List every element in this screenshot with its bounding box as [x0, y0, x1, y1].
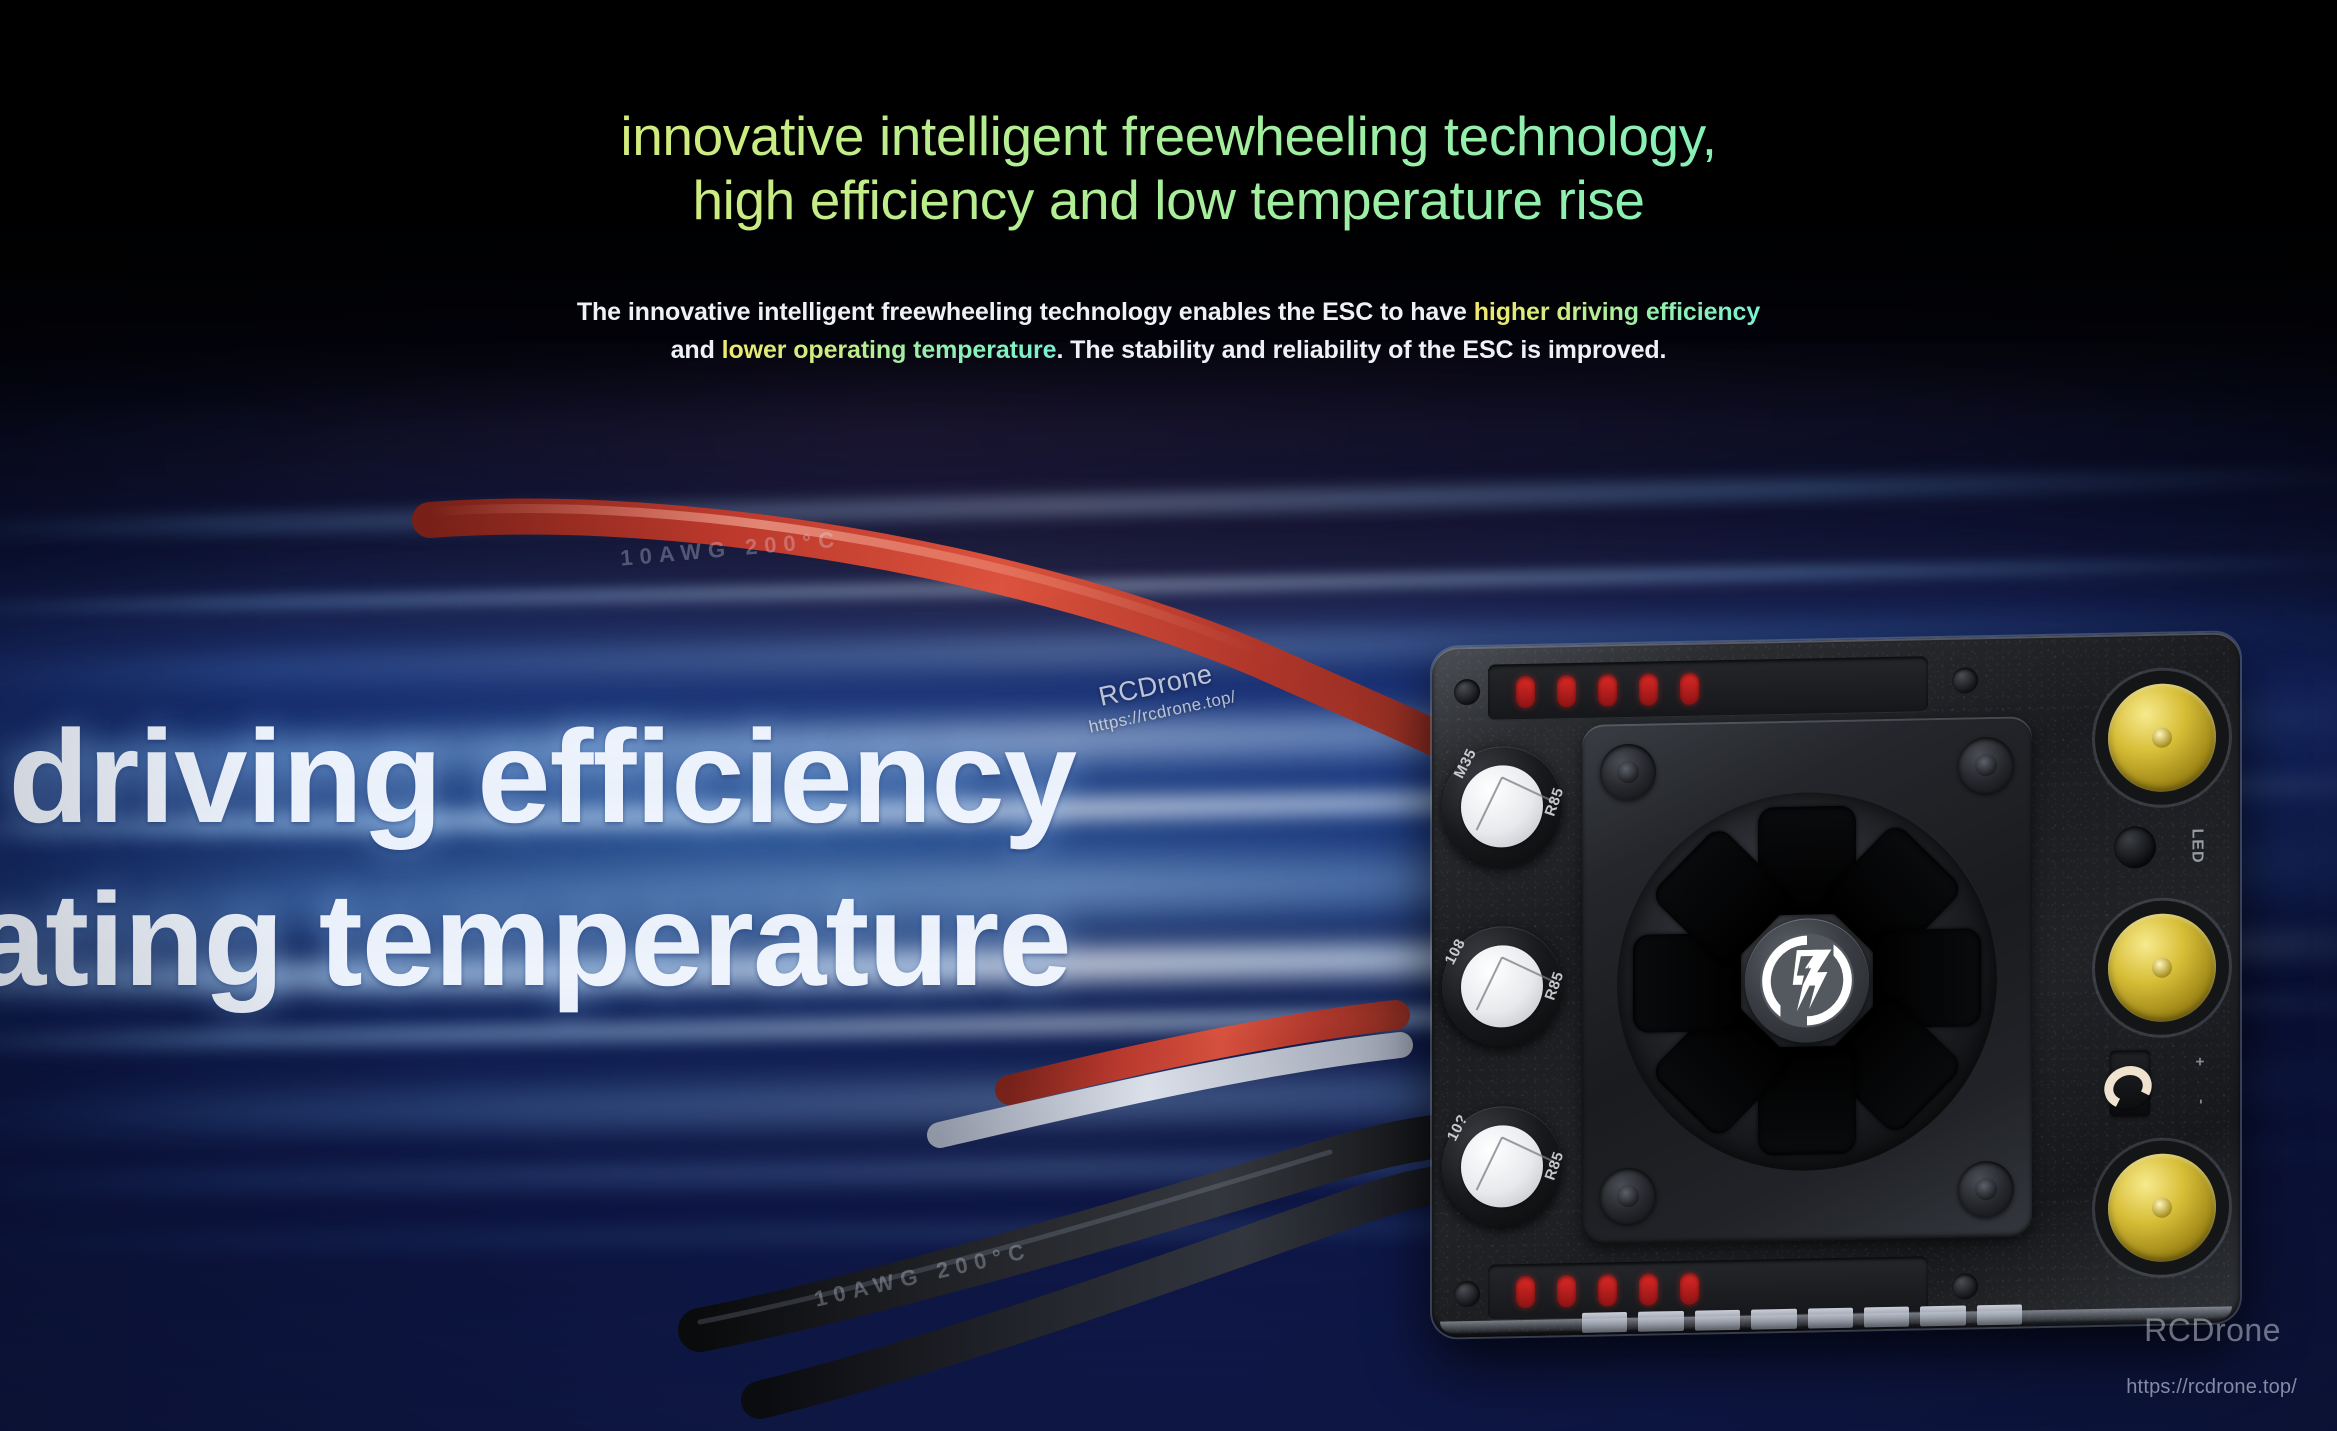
page-subtitle: The innovative intelligent freewheeling …	[569, 293, 1769, 369]
mount-hole	[1952, 667, 1978, 693]
mount-hole	[1454, 679, 1480, 705]
capacitor-vent-top	[1461, 1125, 1543, 1209]
vent-slot	[1639, 673, 1658, 705]
screw	[1958, 1161, 2014, 1218]
background-wordmark: er driving efficiency erating temperatur…	[0, 700, 1410, 1016]
subtitle-highlight-1: higher driving efficiency	[1474, 298, 1760, 326]
background-wordmark-line-1: er driving efficiency	[0, 700, 1410, 853]
vent-slot	[1598, 674, 1617, 706]
vent-slot	[1680, 1273, 1699, 1305]
screw	[1958, 737, 2014, 794]
banner-stage: er driving efficiency erating temperatur…	[0, 0, 2337, 1431]
page-headline: innovative intelligent freewheeling tech…	[0, 104, 2337, 233]
subtitle-segment-1: The innovative intelligent freewheeling …	[577, 298, 1474, 326]
device-watermark: RCDrone	[2144, 1312, 2281, 1349]
bullet-connector	[2108, 683, 2216, 793]
fan-grille	[1617, 787, 1997, 1174]
subtitle-highlight-2: lower operating temperature	[722, 336, 1057, 364]
hobbywing-hw-logo-icon	[1745, 917, 1869, 1043]
vent-slot	[1557, 1275, 1576, 1307]
headline-line-2: high efficiency and low temperature rise	[0, 168, 2337, 232]
vent-slot	[1516, 676, 1535, 708]
esc-faceplate: M35 R85 108 R85 10? R85 LED + -	[1432, 632, 2240, 1338]
vent-rail-top	[1488, 656, 1928, 720]
esc-device: M35 R85 108 R85 10? R85 LED + -	[1432, 640, 2240, 1330]
vent-slot	[1557, 675, 1576, 707]
vent-slot	[1516, 1276, 1535, 1308]
capacitor-vent-top	[1461, 765, 1543, 849]
subtitle-segment-3: . The stability and reliability of the E…	[1056, 336, 1666, 364]
mount-hole	[1952, 1273, 1978, 1299]
headline-line-1: innovative intelligent freewheeling tech…	[0, 104, 2337, 168]
led-indicator-hole	[2114, 826, 2156, 869]
bullet-connector	[2108, 913, 2216, 1023]
mount-hole	[1454, 1281, 1480, 1307]
polarity-plus-label: +	[2191, 1057, 2208, 1066]
capacitor-vent-top	[1461, 945, 1543, 1029]
led-label: LED	[2188, 828, 2206, 863]
background-wordmark-line-2: erating temperature	[0, 863, 1410, 1016]
screw	[1600, 1167, 1656, 1224]
fan-heatsink-plate	[1582, 716, 2032, 1245]
bottom-watermark-url: https://rcdrone.top/	[2126, 1376, 2297, 1399]
connector-column: LED + -	[2080, 660, 2230, 1303]
capacitor-bank: M35 R85 108 R85 10? R85	[1436, 745, 1572, 1228]
vent-slot	[1598, 1274, 1617, 1306]
vent-slot	[1680, 673, 1699, 705]
polarity-minus-label: -	[2193, 1099, 2210, 1104]
subtitle-segment-2: and	[671, 336, 722, 364]
bullet-connector	[2108, 1153, 2216, 1263]
screw	[1600, 743, 1656, 800]
vent-slot	[1639, 1273, 1658, 1305]
